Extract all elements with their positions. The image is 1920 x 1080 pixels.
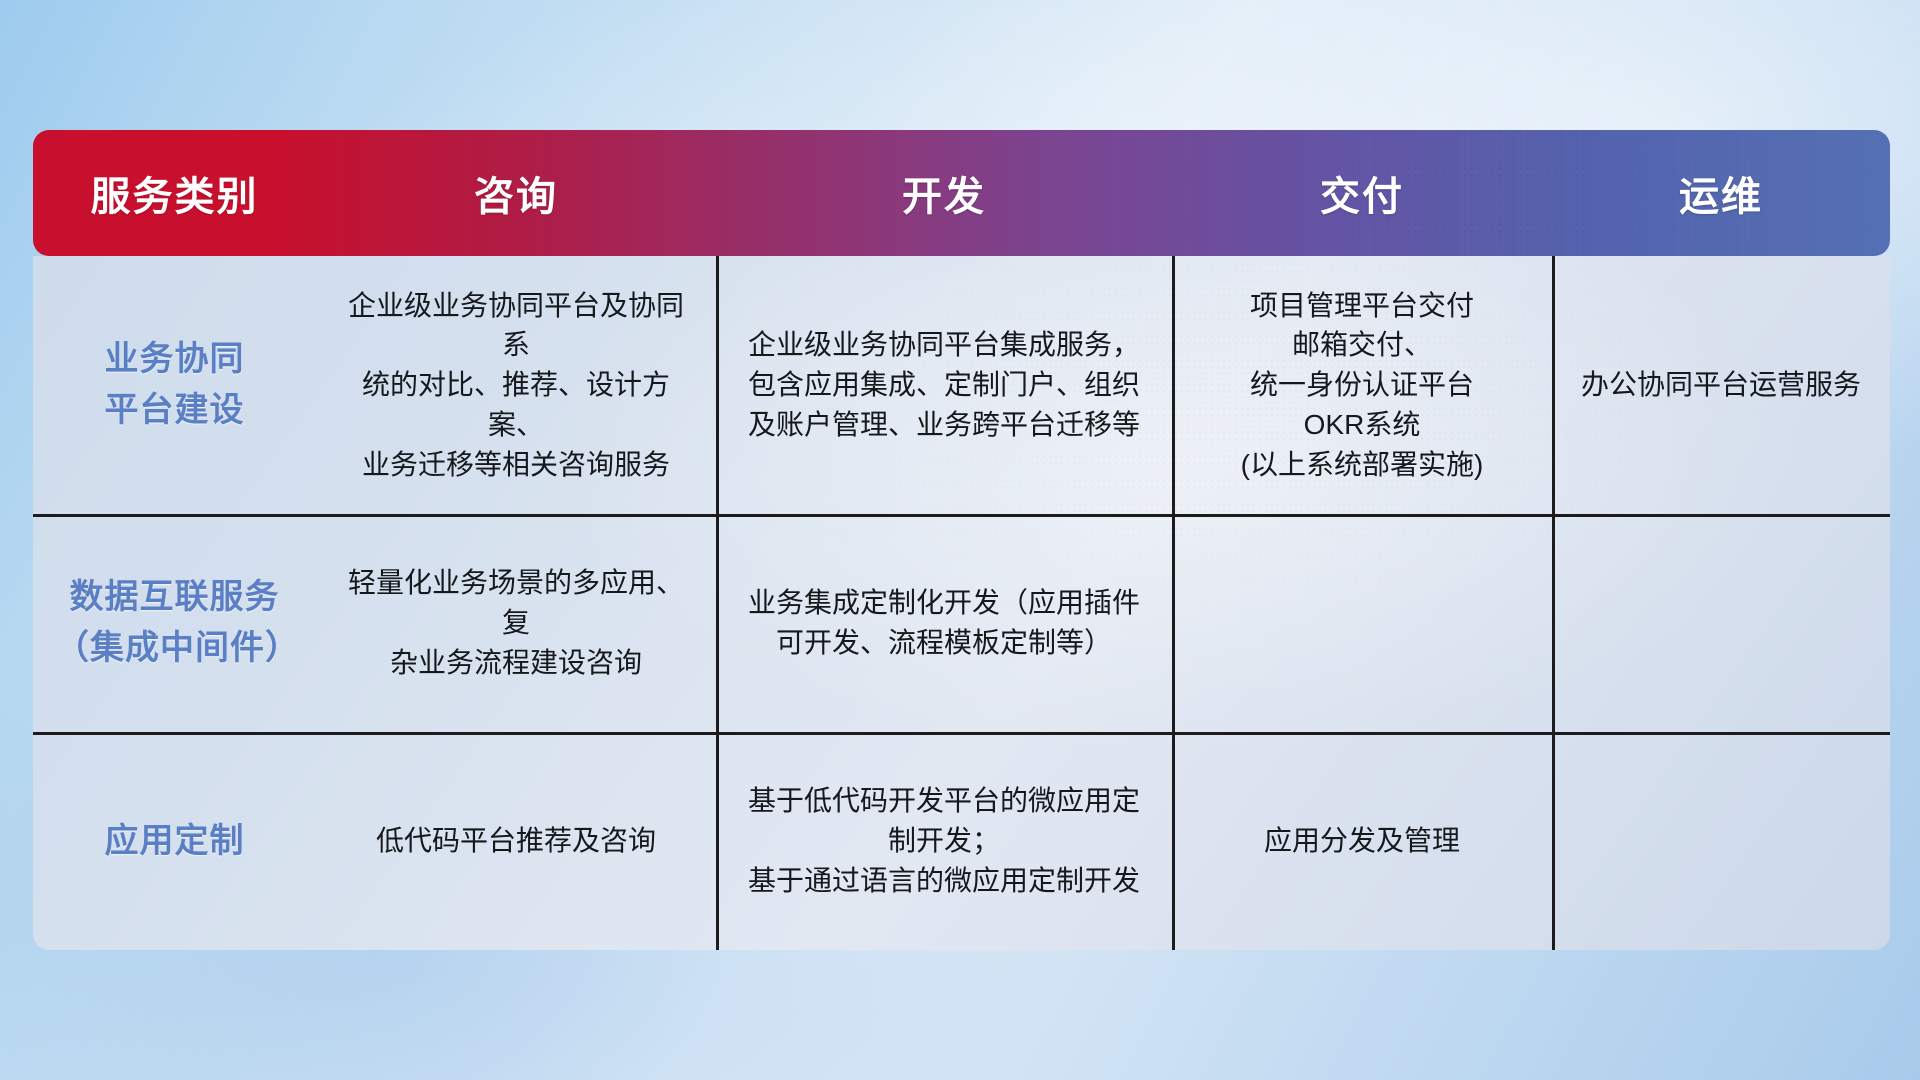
column-header-development: 开发 [716,164,1172,222]
cell-development: 基于低代码开发平台的微应用定 制开发； 基于通过语言的微应用定制开发 [716,732,1172,950]
cell-delivery: 应用分发及管理 [1172,732,1552,950]
category-label: 业务协同 平台建设 [105,334,245,436]
column-divider-1 [716,256,719,950]
column-divider-3 [1552,256,1555,950]
column-header-operations: 运维 [1552,164,1890,222]
category-label: 数据互联服务 （集成中间件） [55,572,294,674]
cell-category: 业务协同 平台建设 [33,256,316,514]
table-header-row: 服务类别 咨询 开发 交付 运维 [33,130,1890,256]
cell-consulting: 轻量化业务场景的多应用、复 杂业务流程建设咨询 [316,514,716,732]
table-row: 业务协同 平台建设 企业级业务协同平台及协同系 统的对比、推荐、设计方案、 业务… [33,256,1890,514]
row-divider-1 [33,514,1890,517]
cell-consulting: 低代码平台推荐及咨询 [316,732,716,950]
cell-delivery [1172,514,1552,732]
column-divider-2 [1172,256,1175,950]
column-header-consulting: 咨询 [316,164,716,222]
service-category-table: 服务类别 咨询 开发 交付 运维 业务协同 平台建设 企业级业务协同平台及协同系… [33,130,1890,950]
cell-operations [1552,514,1890,732]
cell-consulting: 企业级业务协同平台及协同系 统的对比、推荐、设计方案、 业务迁移等相关咨询服务 [316,256,716,514]
cell-operations [1552,732,1890,950]
category-label: 应用定制 [105,816,245,867]
table-body: 业务协同 平台建设 企业级业务协同平台及协同系 统的对比、推荐、设计方案、 业务… [33,256,1890,950]
cell-category: 应用定制 [33,732,316,950]
column-header-category: 服务类别 [33,164,316,222]
cell-operations: 办公协同平台运营服务 [1552,256,1890,514]
row-divider-2 [33,732,1890,735]
table-row: 应用定制 低代码平台推荐及咨询 基于低代码开发平台的微应用定 制开发； 基于通过… [33,732,1890,950]
table-row: 数据互联服务 （集成中间件） 轻量化业务场景的多应用、复 杂业务流程建设咨询 业… [33,514,1890,732]
cell-category: 数据互联服务 （集成中间件） [33,514,316,732]
cell-development: 企业级业务协同平台集成服务， 包含应用集成、定制门户、组织 及账户管理、业务跨平… [716,256,1172,514]
column-header-delivery: 交付 [1172,164,1552,222]
cell-development: 业务集成定制化开发（应用插件 可开发、流程模板定制等） [716,514,1172,732]
cell-delivery: 项目管理平台交付 邮箱交付、 统一身份认证平台 OKR系统 (以上系统部署实施) [1172,256,1552,514]
